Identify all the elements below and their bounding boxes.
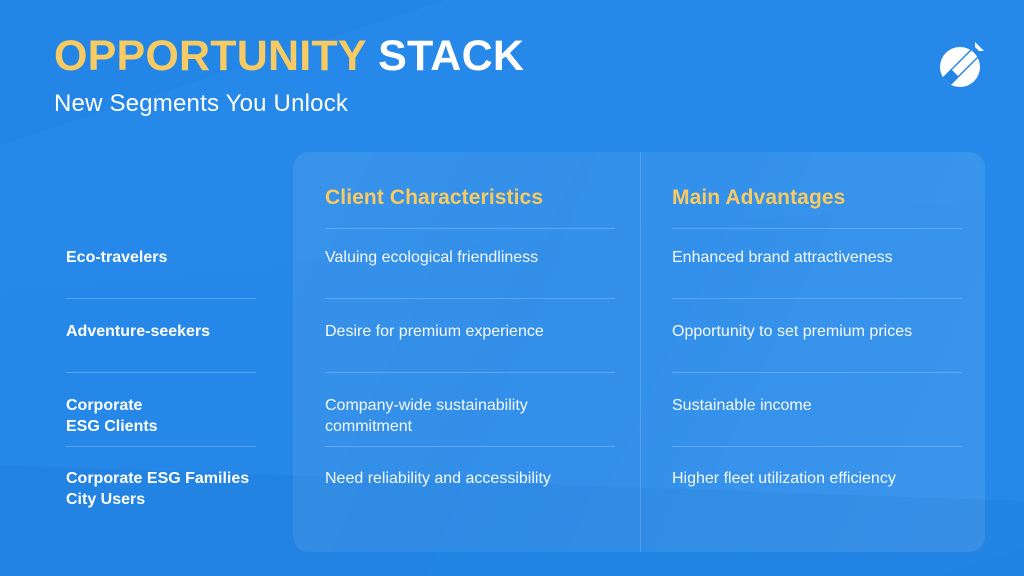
segment-label: Corporate ESG Clients — [66, 395, 271, 438]
row-divider — [672, 228, 962, 229]
advantage-cell: Enhanced brand attractiveness — [672, 247, 964, 268]
row-divider — [672, 298, 962, 299]
segment-label-line1: Corporate ESG Families — [66, 470, 249, 487]
segment-label-line1: Eco-travelers — [66, 249, 167, 266]
column-header-client-characteristics: Client Characteristics — [325, 186, 617, 209]
segment-label: Corporate ESG Families City Users — [66, 468, 296, 511]
segment-label-line1: Corporate — [66, 397, 142, 414]
row-divider — [325, 446, 615, 447]
row-divider — [66, 446, 256, 447]
characteristic-cell: Valuing ecological friendliness — [325, 247, 617, 268]
segment-label: Adventure-seekers — [66, 321, 271, 342]
comparison-grid: Client Characteristics Main Advantages E… — [0, 0, 1024, 576]
row-divider — [325, 228, 615, 229]
characteristic-cell: Desire for premium experience — [325, 321, 617, 342]
segment-label-line1: Adventure-seekers — [66, 323, 210, 340]
row-divider — [66, 372, 256, 373]
row-divider — [325, 372, 615, 373]
row-divider — [325, 298, 615, 299]
segment-label: Eco-travelers — [66, 247, 271, 268]
advantage-cell: Sustainable income — [672, 395, 964, 416]
segment-label-line2: ESG Clients — [66, 418, 158, 435]
advantage-cell: Opportunity to set premium prices — [672, 321, 964, 342]
characteristic-cell: Company-wide sustainability commitment — [325, 395, 617, 437]
row-divider — [672, 372, 962, 373]
slide-canvas: OPPORTUNITY STACK New Segments You Unloc… — [0, 0, 1024, 576]
row-divider — [672, 446, 962, 447]
advantage-cell: Higher fleet utilization efficiency — [672, 468, 964, 489]
row-divider — [66, 298, 256, 299]
characteristic-cell: Need reliability and accessibility — [325, 468, 617, 489]
segment-label-line2: City Users — [66, 491, 145, 508]
column-header-main-advantages: Main Advantages — [672, 186, 964, 209]
